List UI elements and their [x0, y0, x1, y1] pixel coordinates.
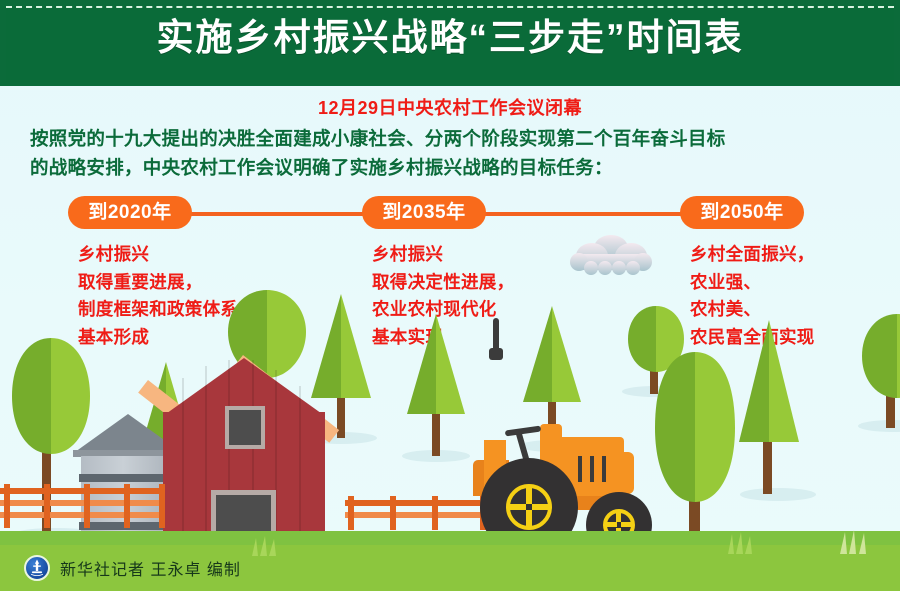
tractor-steering-wheel — [505, 426, 541, 437]
timeline-milestone-2035[interactable]: 到2035年 — [362, 196, 486, 229]
goal-line: 取得重要进展， — [78, 269, 348, 297]
wheel-spoke — [605, 522, 617, 527]
timeline-milestone-2020[interactable]: 到2020年 — [68, 196, 192, 229]
tree-shadow — [740, 488, 816, 501]
tractor-exhaust-cap — [489, 348, 503, 360]
wheel-spoke — [508, 504, 526, 510]
round-tree-icon — [655, 352, 735, 502]
fence-rail — [345, 500, 490, 506]
goal-line: 农业强、 — [690, 269, 900, 297]
conifer-tree-icon — [736, 320, 802, 442]
goal-line: 乡村振兴 — [78, 241, 348, 269]
infographic-poster: 实施乡村振兴战略“三步走”时间表 12月29日中央农村工作会议闭幕 按照党的十九… — [0, 0, 900, 591]
fence-post — [4, 484, 10, 528]
tractor-grille-line — [578, 456, 582, 482]
goal-line: 乡村全面振兴， — [690, 241, 900, 269]
fence-post — [159, 484, 165, 528]
fence-rail — [0, 512, 165, 518]
fence-post — [390, 496, 396, 530]
xinhua-logo-icon — [24, 555, 50, 581]
credit-text: 新华社记者 王永卓 编制 — [60, 556, 241, 580]
timeline-milestone-2050[interactable]: 到2050年 — [680, 196, 804, 229]
tractor-grille-line — [602, 456, 606, 482]
wheel-spoke — [532, 504, 550, 510]
barn-plank — [205, 366, 207, 552]
tractor-seat-back — [540, 424, 562, 454]
conifer-tree-icon — [404, 314, 468, 414]
fence-rail — [0, 500, 165, 506]
page-title: 实施乡村振兴战略“三步走”时间表 — [0, 12, 900, 64]
fence-rail — [0, 488, 165, 494]
timeline-connector-1 — [190, 212, 364, 216]
lead-line-1: 按照党的十九大提出的决胜全面建成小康社会、分两个阶段实现第二个百年奋斗目标 — [30, 124, 870, 153]
cloud-icon — [565, 234, 657, 280]
barn-plank — [299, 386, 301, 552]
lead-line-2: 的战略安排，中央农村工作会议明确了实施乡村振兴战略的目标任务： — [30, 153, 870, 182]
fence-post — [84, 484, 90, 528]
fence-rail — [345, 512, 490, 518]
fence-post — [432, 496, 438, 530]
barn-plank — [182, 378, 184, 552]
timeline-connector-2 — [484, 212, 682, 216]
barn-window — [225, 406, 265, 449]
fence-post — [124, 484, 130, 528]
tractor-nose — [618, 452, 634, 494]
subtitle: 12月29日中央农村工作会议闭幕 — [0, 94, 900, 120]
wheel-spoke — [616, 510, 621, 522]
fence-post — [44, 484, 50, 528]
tractor-grille-line — [590, 456, 594, 482]
fence-post — [348, 496, 354, 530]
footer-bar: 新华社记者 王永卓 编制 — [0, 545, 900, 591]
wheel-spoke — [526, 510, 532, 528]
timeline: 到2020年 到2035年 到2050年 — [0, 196, 900, 230]
round-tree-icon — [862, 314, 900, 398]
title-banner: 实施乡村振兴战略“三步走”时间表 — [0, 0, 900, 86]
wheel-spoke — [621, 522, 633, 527]
wheel-spoke — [526, 486, 532, 504]
conifer-tree-icon — [520, 306, 584, 402]
lead-paragraph: 按照党的十九大提出的决胜全面建成小康社会、分两个阶段实现第二个百年奋斗目标 的战… — [30, 124, 870, 182]
